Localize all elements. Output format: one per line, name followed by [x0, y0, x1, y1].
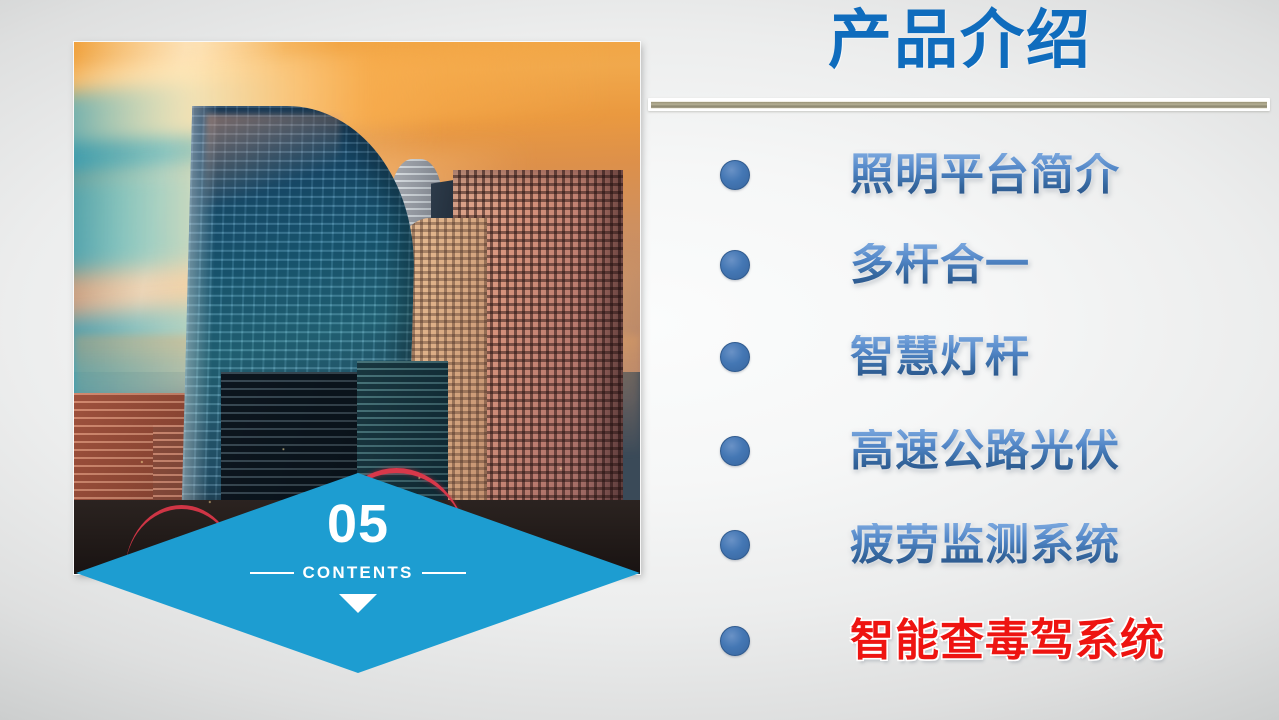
- rule-right: [422, 572, 466, 574]
- list-item-label: 智慧灯杆: [850, 335, 1030, 379]
- list-item[interactable]: 疲劳监测系统: [700, 510, 1279, 580]
- title-divider: [648, 98, 1270, 111]
- list-item-label: 多杆合一: [850, 243, 1030, 287]
- bullet-dot-icon: [720, 530, 750, 560]
- contents-subtitle-row: CONTENTS: [250, 563, 465, 583]
- bullet-dot-icon: [720, 250, 750, 280]
- contents-list: 照明平台简介 多杆合一 智慧灯杆 高速公路光伏 疲劳监测系统 智能查毒驾系统: [700, 132, 1279, 702]
- divider-inner-bar: [651, 101, 1267, 109]
- caret-down-icon: [339, 594, 377, 613]
- bullet-dot-icon: [720, 160, 750, 190]
- bullet-dot-icon: [720, 626, 750, 656]
- list-item[interactable]: 多杆合一: [700, 230, 1279, 300]
- list-item-label: 高速公路光伏: [850, 429, 1120, 473]
- section-number: 05: [327, 497, 389, 551]
- rule-left: [250, 572, 294, 574]
- presentation-slide: 05 CONTENTS 产品介绍 照明平台简介 多杆合一 智慧灯杆 高速公路光伏: [0, 0, 1279, 720]
- contents-subtitle: CONTENTS: [302, 563, 413, 583]
- list-item-label: 照明平台简介: [850, 153, 1120, 197]
- page-title: 产品介绍: [648, 6, 1272, 76]
- list-item[interactable]: 照明平台简介: [700, 140, 1279, 210]
- bullet-dot-icon: [720, 436, 750, 466]
- list-item-label: 智能查毒驾系统: [850, 619, 1165, 663]
- list-item[interactable]: 高速公路光伏: [700, 416, 1279, 486]
- list-item[interactable]: 智能查毒驾系统: [700, 606, 1279, 676]
- list-item-label: 疲劳监测系统: [850, 523, 1120, 567]
- bullet-dot-icon: [720, 342, 750, 372]
- list-item[interactable]: 智慧灯杆: [700, 322, 1279, 392]
- contents-badge: 05 CONTENTS: [76, 473, 640, 673]
